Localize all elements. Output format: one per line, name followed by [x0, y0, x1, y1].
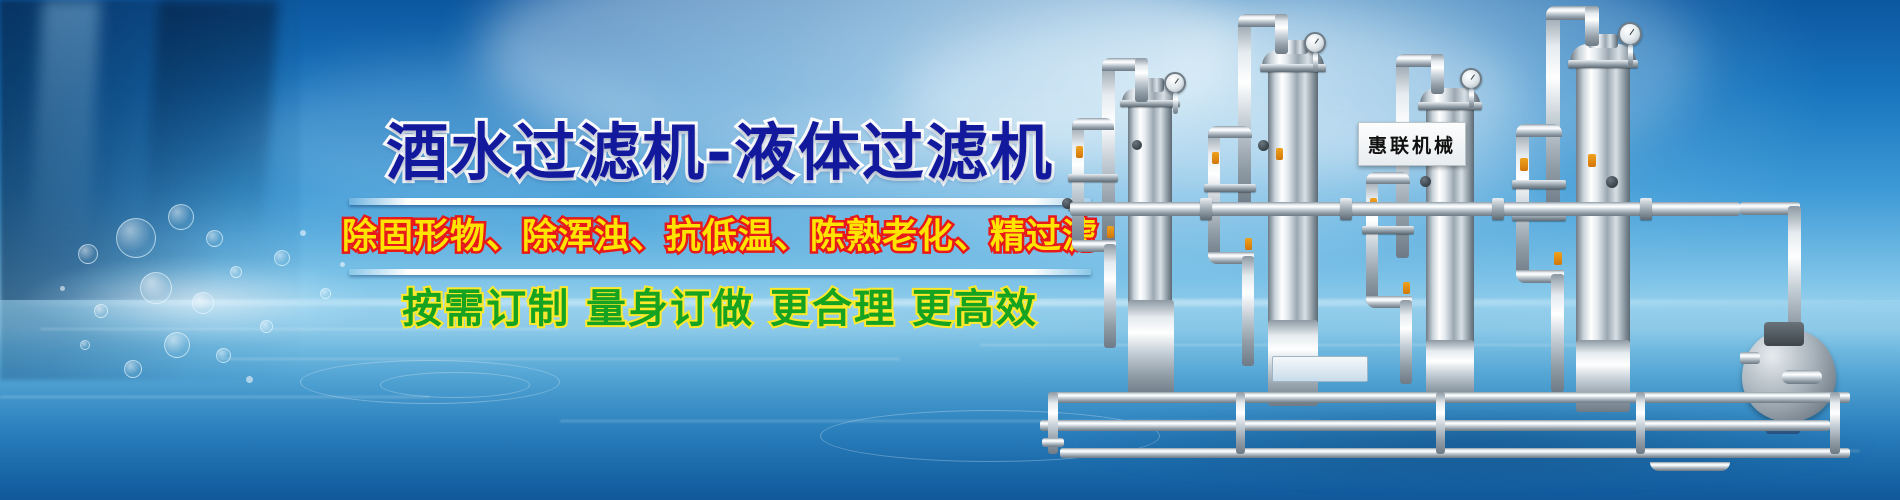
- pressure-gauge-icon: [1164, 72, 1186, 94]
- product-banner: 酒水过滤机-液体过滤机 除固形物、除浑浊、抗低温、陈熟老化、精过滤 按需订制 量…: [0, 0, 1900, 500]
- pressure-gauge-icon: [1460, 68, 1482, 90]
- pressure-gauge-icon: [1304, 32, 1326, 54]
- page-title: 酒水过滤机-液体过滤机: [330, 120, 1110, 186]
- manifold-pipe: [1070, 202, 1730, 216]
- pressure-gauge-icon: [1618, 22, 1642, 46]
- equipment-label: [1272, 356, 1368, 382]
- banner-subtitle: 除固形物、除浑浊、抗低温、陈熟老化、精过滤: [330, 218, 1110, 257]
- filter-machine-illustration: 惠联机械: [1040, 0, 1900, 500]
- water-column-left-inner: [142, 0, 279, 240]
- divider-top: [349, 198, 1091, 205]
- divider-bottom: [349, 269, 1091, 275]
- banner-text-block: 酒水过滤机-液体过滤机 除固形物、除浑浊、抗低温、陈熟老化、精过滤 按需订制 量…: [330, 120, 1110, 331]
- brand-sign: 惠联机械: [1358, 122, 1466, 166]
- banner-tagline: 按需订制 量身订做 更合理 更高效: [330, 287, 1110, 331]
